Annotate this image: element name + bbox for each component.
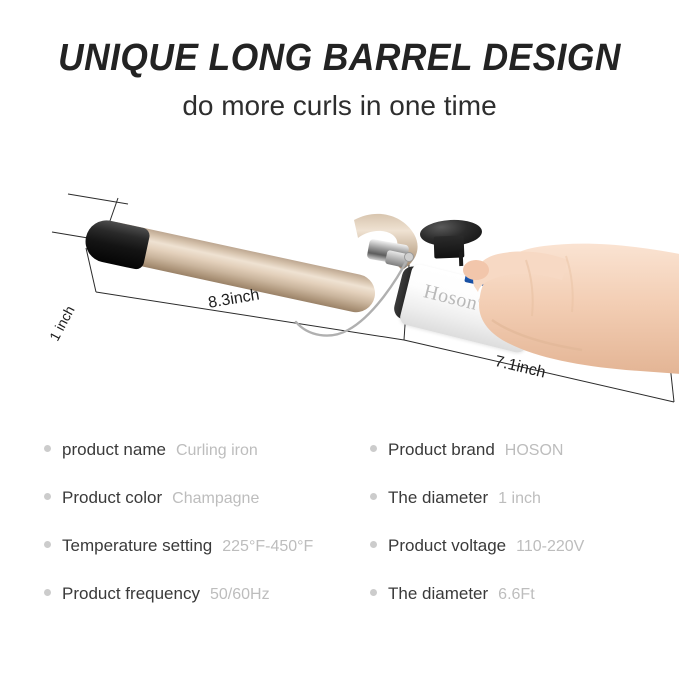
spec-row: Product color Champagne [44, 488, 374, 536]
spec-row: The diameter 1 inch [370, 488, 679, 536]
spec-value: HOSON [505, 442, 564, 460]
product-illustration: Hoson® 450 [0, 140, 679, 430]
spec-value: 110-220V [516, 538, 584, 556]
spec-column-right: Product brand HOSON The diameter 1 inch … [370, 440, 679, 632]
spec-label: The diameter [388, 488, 488, 508]
hand [440, 200, 679, 390]
spec-label: Product brand [388, 440, 495, 460]
bullet-icon [44, 541, 51, 548]
spec-row: Temperature setting 225°F-450°F [44, 536, 374, 584]
spec-row: Product brand HOSON [370, 440, 679, 488]
cool-tip-cap-icon [82, 216, 151, 270]
spec-label: Temperature setting [62, 536, 212, 556]
spec-row: Product voltage 110-220V [370, 536, 679, 584]
spec-row: product name Curling iron [44, 440, 374, 488]
spec-value: 50/60Hz [210, 586, 270, 604]
bullet-icon [370, 445, 377, 452]
page-title: UNIQUE LONG BARREL DESIGN [24, 0, 655, 80]
spec-value: Curling iron [176, 442, 258, 460]
spec-label: The diameter [388, 584, 488, 604]
bullet-icon [370, 589, 377, 596]
spec-row: The diameter 6.6Ft [370, 584, 679, 632]
spec-value: 1 inch [498, 490, 541, 508]
spec-label: Product color [62, 488, 162, 508]
spec-label: Product voltage [388, 536, 506, 556]
spec-label: product name [62, 440, 166, 460]
spec-row: Product frequency 50/60Hz [44, 584, 374, 632]
curling-iron: Hoson® 450 [0, 140, 679, 430]
page-subtitle: do more curls in one time [0, 80, 679, 123]
spec-label: Product frequency [62, 584, 200, 604]
bullet-icon [44, 589, 51, 596]
spec-column-left: product name Curling iron Product color … [44, 440, 374, 632]
bullet-icon [44, 493, 51, 500]
spec-value: 6.6Ft [498, 586, 534, 604]
bullet-icon [370, 541, 377, 548]
product-infographic: UNIQUE LONG BARREL DESIGN do more curls … [0, 0, 679, 679]
bullet-icon [44, 445, 51, 452]
bullet-icon [370, 493, 377, 500]
header: UNIQUE LONG BARREL DESIGN do more curls … [0, 0, 679, 123]
spec-value: 225°F-450°F [222, 538, 313, 556]
spec-value: Champagne [172, 490, 259, 508]
